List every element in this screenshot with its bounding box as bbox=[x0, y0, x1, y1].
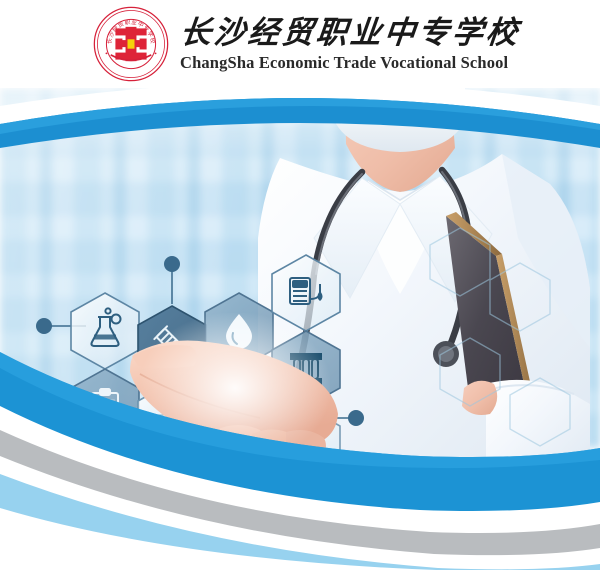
school-seal-logo-svg: 长沙经贸职业中专学校 bbox=[92, 5, 170, 83]
school-seal-logo: 长沙经贸职业中专学校 bbox=[92, 5, 170, 83]
school-name-cn: 长沙经贸职业中专学校 bbox=[178, 16, 522, 50]
top-blue-arc bbox=[0, 88, 600, 148]
school-name-en: ChangSha Economic Trade Vocational Schoo… bbox=[180, 53, 520, 74]
site-header: 长沙经贸职业中专学校 bbox=[0, 0, 600, 88]
header-titles: 长沙经贸职业中专学校 ChangSha Economic Trade Vocat… bbox=[180, 14, 520, 74]
bottom-wave-stack bbox=[0, 310, 600, 570]
banner-image bbox=[0, 88, 600, 570]
top-blue-arc-svg bbox=[0, 88, 600, 148]
banner-page: 长沙经贸职业中专学校 bbox=[0, 0, 600, 570]
header-inner: 长沙经贸职业中专学校 bbox=[92, 5, 520, 83]
bottom-wave-stack-svg bbox=[0, 310, 600, 570]
